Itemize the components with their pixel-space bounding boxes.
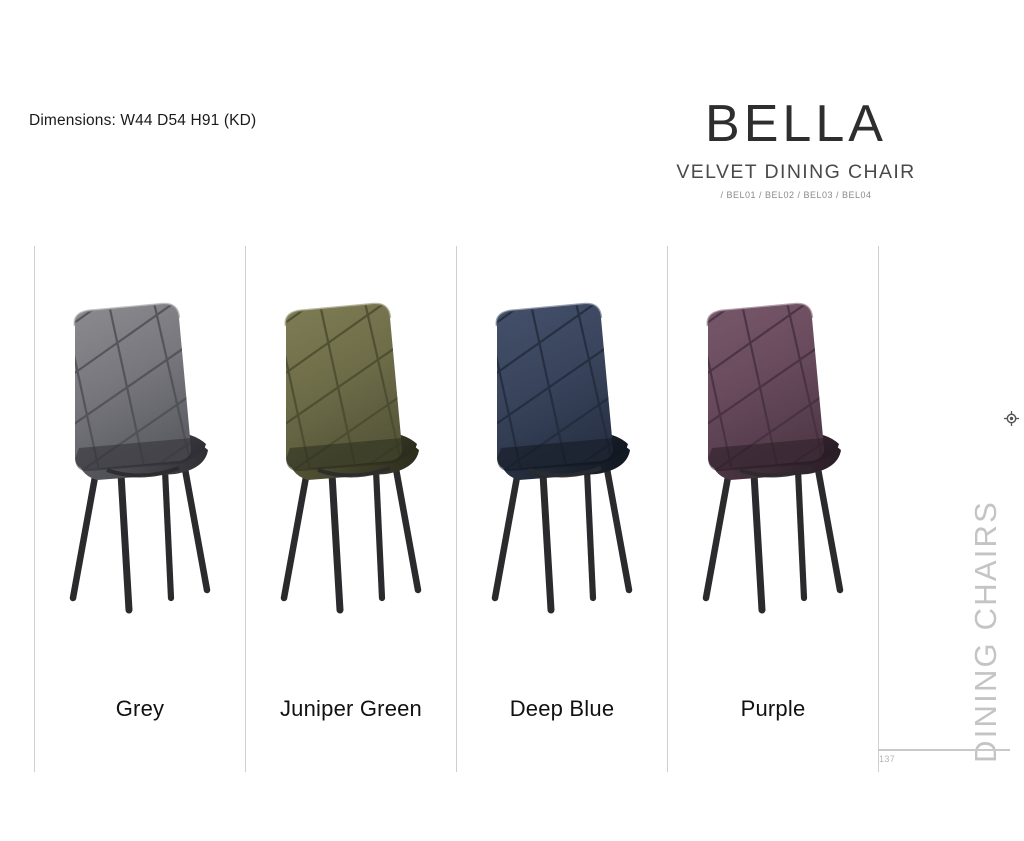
product-grid: Grey (34, 246, 669, 772)
dimensions-text: Dimensions: W44 D54 H91 (KD) (29, 112, 256, 130)
chair-image[interactable] (45, 298, 235, 628)
color-label: Grey (35, 696, 245, 722)
chair-image[interactable] (678, 298, 868, 628)
product-column[interactable]: Purple (667, 246, 879, 772)
color-label: Juniper Green (246, 696, 456, 722)
chair-illustration (256, 298, 446, 628)
brand-name: BELLA (646, 98, 946, 150)
chair-illustration (45, 298, 235, 628)
product-column[interactable]: Juniper Green (245, 246, 456, 772)
brand-sku-list: / BEL01 / BEL02 / BEL03 / BEL04 (646, 190, 946, 200)
catalog-page: Dimensions: W44 D54 H91 (KD) BELLA VELVE… (0, 0, 1024, 841)
color-label: Purple (668, 696, 878, 722)
brand-lockup: BELLA VELVET DINING CHAIR / BEL01 / BEL0… (646, 98, 946, 200)
page-number: 137 (879, 754, 895, 764)
chair-legs (495, 458, 629, 610)
brand-subtitle: VELVET DINING CHAIR (646, 161, 946, 184)
product-column[interactable]: Deep Blue (456, 246, 667, 772)
chair-image[interactable] (467, 298, 657, 628)
page-number-rule (878, 749, 1010, 751)
product-column[interactable]: Grey (34, 246, 245, 772)
chair-illustration (467, 298, 657, 628)
chair-legs (284, 458, 418, 610)
chair-illustration (678, 298, 868, 628)
section-label-dining-chairs: DINING CHAIRS (968, 500, 1004, 763)
color-label: Deep Blue (457, 696, 667, 722)
registration-mark-icon (1004, 411, 1019, 426)
chair-legs (706, 458, 840, 610)
chair-image[interactable] (256, 298, 446, 628)
chair-legs (73, 458, 207, 610)
